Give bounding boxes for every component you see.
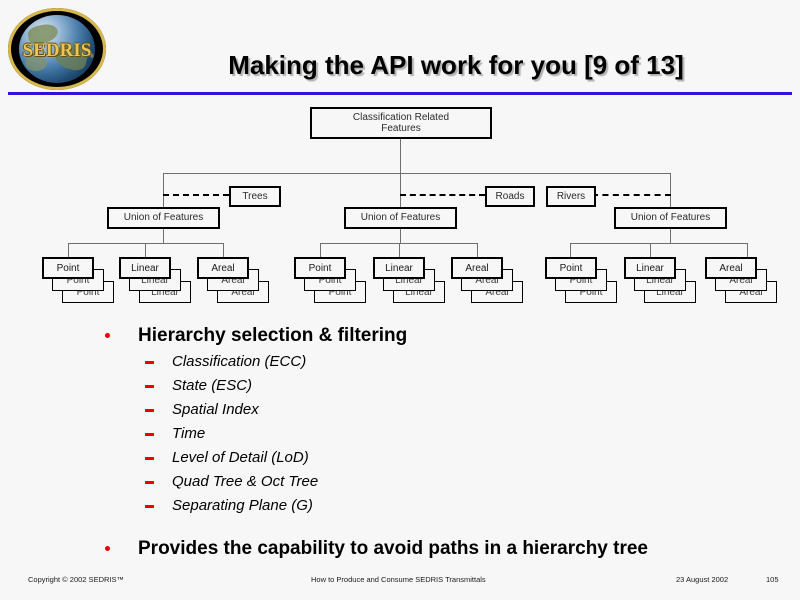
connector-dashed-rivers — [592, 194, 671, 196]
bullet-dash-icon — [145, 433, 154, 436]
diagram-node-rivers: Rivers — [546, 186, 596, 207]
connector-level1-drop-middle — [400, 173, 401, 207]
diagram-stack-linear-2: Linear Linear Linear — [373, 257, 445, 303]
diagram-stack-areal-1: Areal Areal Areal — [197, 257, 269, 303]
diagram-node-root: Classification Related Features — [310, 107, 492, 139]
connector-union1-stem — [163, 229, 164, 243]
stack-box-front: Linear — [624, 257, 676, 279]
diagram-stack-point-1: Point Point Point — [42, 257, 114, 303]
bullet-item-secondary: State (ESC) — [0, 374, 800, 398]
footer-center-title: How to Produce and Consume SEDRIS Transm… — [311, 575, 486, 584]
connector-dashed-roads — [400, 194, 485, 196]
bullet-label: Classification (ECC) — [172, 353, 306, 370]
connector-union3-child-drop — [747, 243, 748, 257]
stack-box-front: Areal — [197, 257, 249, 279]
logo-trademark-icon: ® — [89, 54, 94, 60]
connector-union2-child-drop — [320, 243, 321, 257]
bullet-label: Separating Plane (G) — [172, 497, 313, 514]
diagram-node-union-3: Union of Features — [614, 207, 727, 229]
connector-level1-drop-right — [670, 173, 671, 207]
stack-box-front: Point — [294, 257, 346, 279]
bullet-dash-icon — [145, 385, 154, 388]
diagram-stack-linear-1: Linear Linear Linear — [119, 257, 191, 303]
slide-footer: Copyright © 2002 SEDRIS™ How to Produce … — [0, 570, 800, 594]
bullet-dot-icon — [105, 333, 110, 338]
connector-union3-bus — [570, 243, 747, 244]
bullet-dash-icon — [145, 361, 154, 364]
bullet-item-secondary: Spatial Index — [0, 398, 800, 422]
bullet-dash-icon — [145, 457, 154, 460]
connector-level1-drop-left — [163, 173, 164, 207]
stack-box-front: Linear — [373, 257, 425, 279]
diagram-stack-point-3: Point Point Point — [545, 257, 617, 303]
bullet-label: Level of Detail (LoD) — [172, 449, 309, 466]
diagram-node-union-2: Union of Features — [344, 207, 457, 229]
connector-union3-stem — [670, 229, 671, 243]
diagram-stack-linear-3: Linear Linear Linear — [624, 257, 696, 303]
bullet-label: Spatial Index — [172, 401, 259, 418]
diagram-node-union-1: Union of Features — [107, 207, 220, 229]
bullet-item-secondary: Quad Tree & Oct Tree — [0, 470, 800, 494]
bullet-dash-icon — [145, 505, 154, 508]
stack-box-front: Point — [545, 257, 597, 279]
bullet-item-secondary: Time — [0, 422, 800, 446]
bullet-label: Quad Tree & Oct Tree — [172, 473, 318, 490]
bullet-item-secondary: Classification (ECC) — [0, 350, 800, 374]
stack-box-front: Areal — [451, 257, 503, 279]
connector-union1-child-drop — [223, 243, 224, 257]
connector-union3-child-drop — [650, 243, 651, 257]
connector-dashed-trees — [163, 194, 229, 196]
title-divider — [8, 92, 792, 95]
bullet-content: Hierarchy selection & filtering Classifi… — [0, 322, 800, 563]
bullet-label: Provides the capability to avoid paths i… — [138, 538, 648, 559]
connector-level1-bus — [163, 173, 671, 174]
bullet-label: Time — [172, 425, 205, 442]
root-label-line1: Classification Related — [353, 112, 449, 123]
connector-union3-child-drop — [570, 243, 571, 257]
root-label-line2: Features — [381, 123, 420, 134]
bullet-dot-icon — [105, 546, 110, 551]
connector-union1-child-drop — [145, 243, 146, 257]
bullet-item-primary: Provides the capability to avoid paths i… — [0, 535, 800, 563]
connector-union2-child-drop — [399, 243, 400, 257]
page-title: Making the API work for you [9 of 13] — [120, 50, 792, 81]
diagram-stack-areal-3: Areal Areal Areal — [705, 257, 777, 303]
bullet-dash-icon — [145, 409, 154, 412]
bullet-dash-icon — [145, 481, 154, 484]
diagram-node-roads: Roads — [485, 186, 535, 207]
bullet-label: State (ESC) — [172, 377, 252, 394]
connector-root-stem — [400, 139, 401, 173]
slide-canvas: SEDRIS ® Making the API work for you [9 … — [0, 0, 800, 600]
connector-union1-child-drop — [68, 243, 69, 257]
footer-copyright: Copyright © 2002 SEDRIS™ — [28, 575, 124, 584]
connector-union2-stem — [400, 229, 401, 243]
diagram-node-trees: Trees — [229, 186, 281, 207]
classification-hierarchy-diagram: Classification Related Features Trees Ro… — [0, 100, 800, 320]
bullet-label: Hierarchy selection & filtering — [138, 325, 407, 346]
stack-box-front: Areal — [705, 257, 757, 279]
bullet-item-primary: Hierarchy selection & filtering — [0, 322, 800, 350]
sedris-logo: SEDRIS ® — [8, 8, 106, 90]
connector-union2-child-drop — [477, 243, 478, 257]
diagram-stack-point-2: Point Point Point — [294, 257, 366, 303]
stack-box-front: Linear — [119, 257, 171, 279]
bullet-item-secondary: Level of Detail (LoD) — [0, 446, 800, 470]
footer-page-number: 105 — [766, 575, 779, 584]
bullet-item-secondary: Separating Plane (G) — [0, 494, 800, 518]
footer-date: 23 August 2002 — [676, 575, 728, 584]
stack-box-front: Point — [42, 257, 94, 279]
diagram-stack-areal-2: Areal Areal Areal — [451, 257, 523, 303]
